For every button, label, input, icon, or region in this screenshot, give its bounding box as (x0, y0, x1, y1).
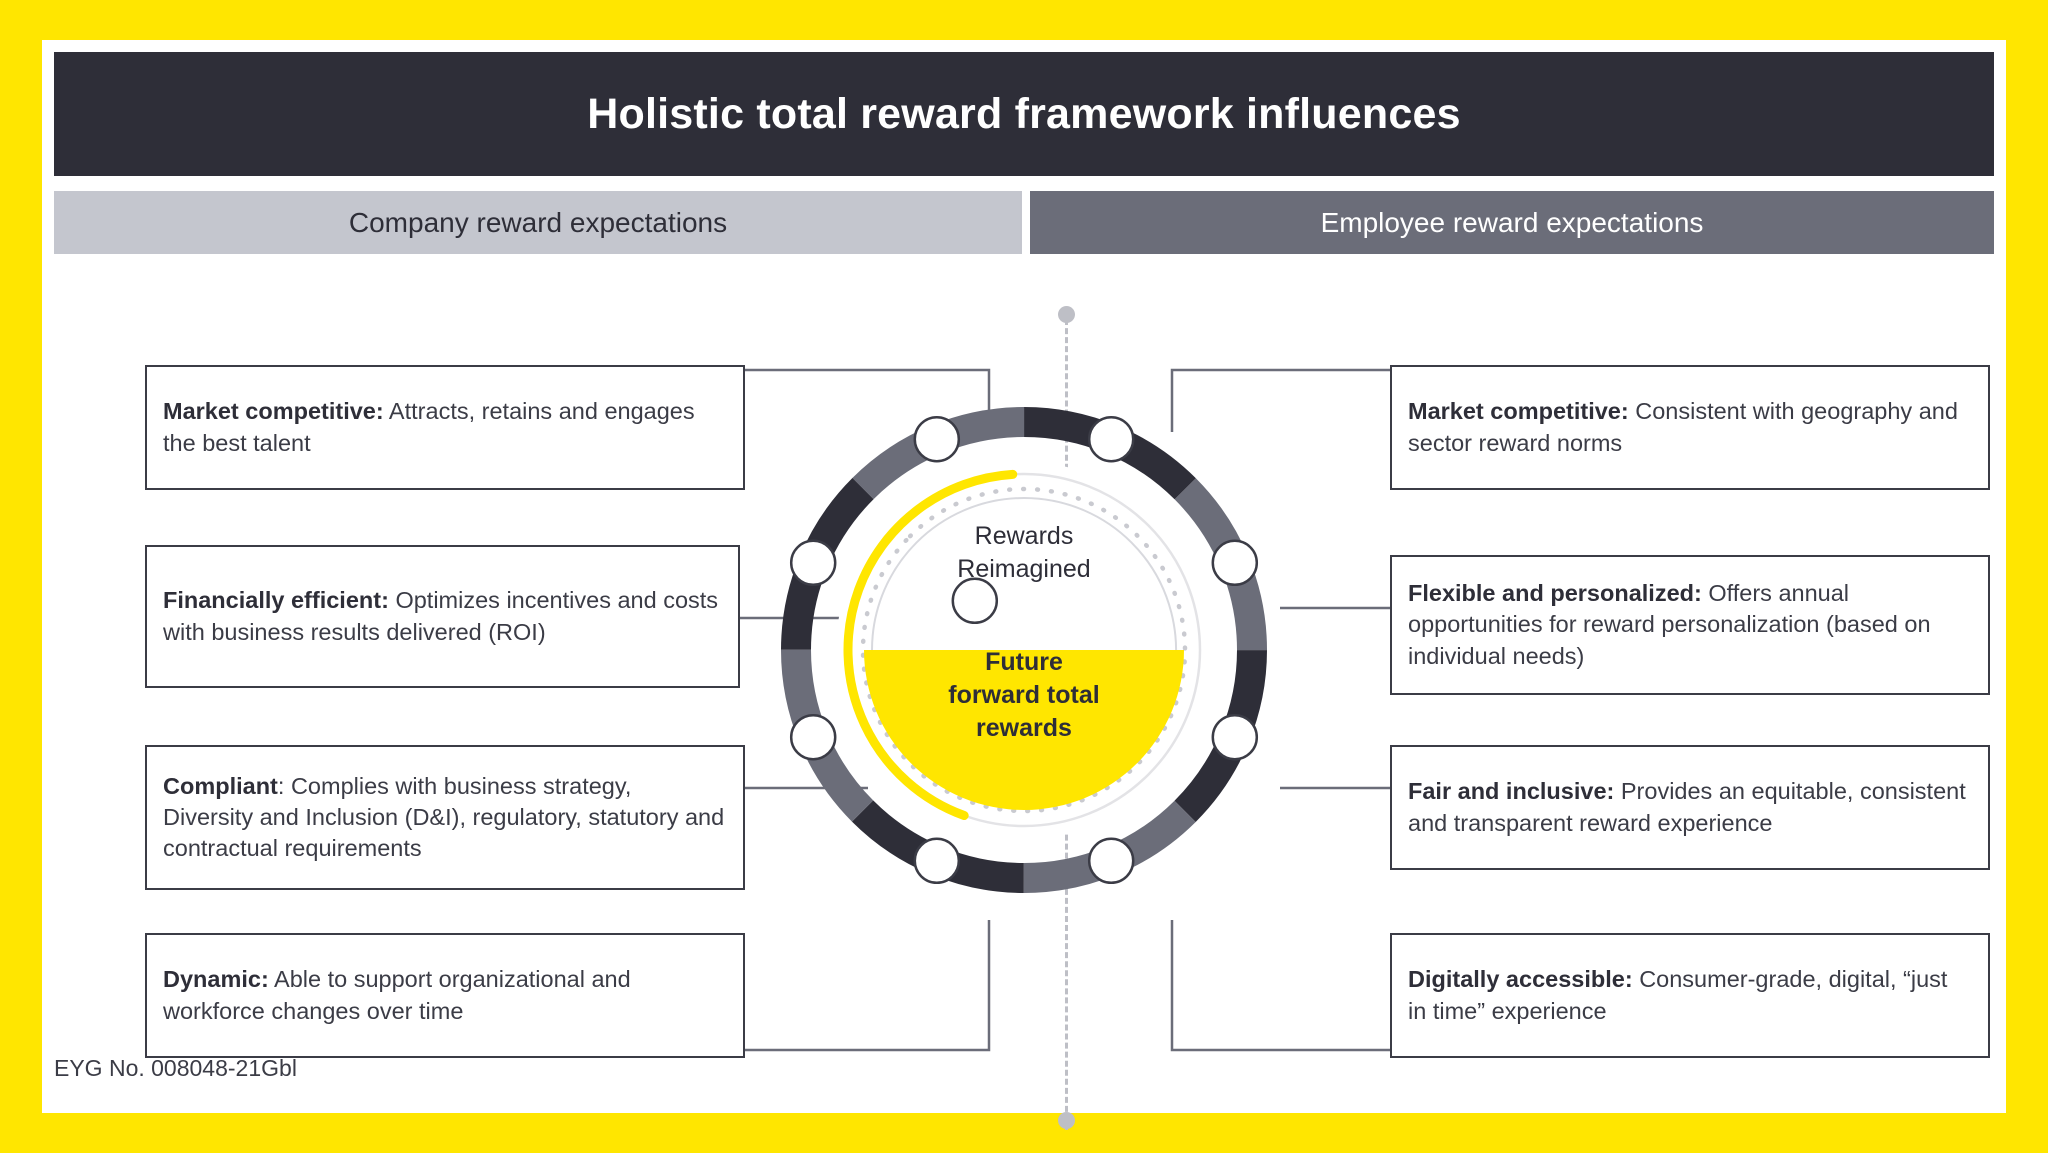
employee-item-fair-and-inclusive[interactable]: Fair and inclusive: Provides an equitabl… (1390, 745, 1990, 870)
company-item-4-bold: Dynamic: (163, 966, 269, 992)
center-bottom-line-2: forward total (764, 679, 1284, 712)
employee-item-flexible-and-personalized[interactable]: Flexible and personalized: Offers annual… (1390, 555, 1990, 695)
column-header-employee-label: Employee reward expectations (1321, 207, 1704, 239)
company-item-1-bold: Market competitive: (163, 398, 384, 424)
company-item-dynamic[interactable]: Dynamic: Able to support organizational … (145, 933, 745, 1058)
column-header-employee: Employee reward expectations (1030, 191, 1994, 254)
footer-reference: EYG No. 008048-21Gbl (54, 1055, 297, 1082)
employee-item-market-competitive[interactable]: Market competitive: Consistent with geog… (1390, 365, 1990, 490)
company-item-compliant[interactable]: Compliant: Complies with business strate… (145, 745, 745, 890)
page-title: Holistic total reward framework influenc… (587, 90, 1460, 139)
employee-item-digitally-accessible[interactable]: Digitally accessible: Consumer-grade, di… (1390, 933, 1990, 1058)
employee-item-3-bold: Fair and inclusive: (1408, 778, 1614, 804)
ring-node-5 (1089, 839, 1133, 883)
employee-item-1-bold: Market competitive: (1408, 398, 1629, 424)
slide-frame: Holistic total reward framework influenc… (42, 40, 2006, 1113)
center-top-line-1: Rewards (764, 520, 1284, 553)
ring-node-1 (915, 417, 959, 461)
column-header-company: Company reward expectations (54, 191, 1022, 254)
company-item-market-competitive[interactable]: Market competitive: Attracts, retains an… (145, 365, 745, 490)
center-bottom-line-1: Future (764, 646, 1284, 679)
ring-node-6 (915, 839, 959, 883)
central-circle-graphic: Rewards Reimagined Future forward total … (764, 390, 1284, 910)
employee-item-2-bold: Flexible and personalized: (1408, 580, 1702, 606)
center-bottom-line-3: rewards (764, 712, 1284, 745)
column-header-company-label: Company reward expectations (349, 207, 727, 239)
company-item-3-bold: Compliant (163, 773, 278, 799)
divider-dot-bottom (1058, 1112, 1075, 1129)
employee-item-4-bold: Digitally accessible: (1408, 966, 1633, 992)
center-bottom-label: Future forward total rewards (764, 646, 1284, 745)
center-top-line-2: Reimagined (764, 553, 1284, 586)
title-bar: Holistic total reward framework influenc… (54, 52, 1994, 176)
ring-node-2 (1089, 417, 1133, 461)
center-top-label: Rewards Reimagined (764, 520, 1284, 586)
company-item-2-bold: Financially efficient: (163, 587, 389, 613)
company-item-financially-efficient[interactable]: Financially efficient: Optimizes incenti… (145, 545, 740, 688)
